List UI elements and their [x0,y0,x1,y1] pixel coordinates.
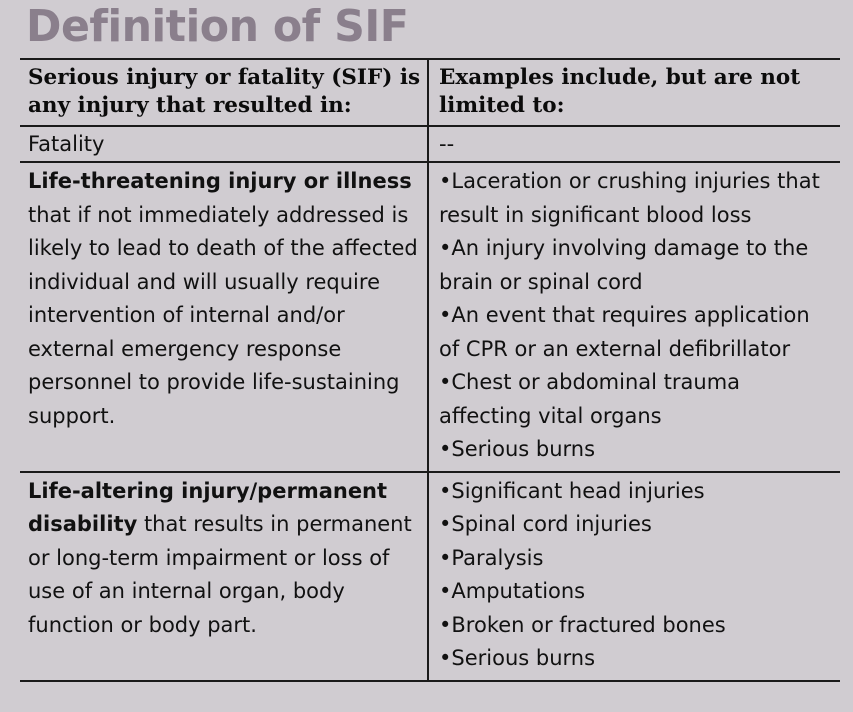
bullet-icon: • [439,479,451,503]
list-item-label: Spinal cord injuries [451,512,651,536]
row-life-threatening-definition-lead: Life-threatening injury or illness [28,169,412,193]
table-row: Life-threatening injury or illness that … [20,162,840,472]
bullet-icon: • [439,303,451,327]
list-item-label: An event that requires application of CP… [439,303,810,361]
list-item: •Chest or abdominal trauma affecting vit… [439,366,834,433]
page-title: Definition of SIF [26,1,408,53]
bullet-icon: • [439,169,451,193]
list-item-label: Laceration or crushing injuries that res… [439,169,820,227]
row-life-altering-examples-cell: •Significant head injuries •Spinal cord … [428,472,840,681]
table-header-right-label: Examples include, but are not limited to… [429,60,840,125]
list-item: •Laceration or crushing injuries that re… [439,165,834,232]
row-life-threatening-definition-text: Life-threatening injury or illness that … [28,165,421,433]
row-fatality-examples-cell: -- [428,126,840,162]
bullet-icon: • [439,370,451,394]
list-item: •An injury involving damage to the brain… [439,232,834,299]
table-header-cell-left: Serious injury or fatality (SIF) is any … [20,59,428,126]
bullet-icon: • [439,236,451,260]
list-item-label: Paralysis [451,546,543,570]
bullet-icon: • [439,579,451,603]
row-life-threatening-definition-body: that if not immediately addressed is lik… [28,203,418,428]
bullet-icon: • [439,546,451,570]
table-row: Life-altering injury/permanent disabilit… [20,472,840,681]
list-item: •Broken or fractured bones [439,609,834,643]
row-fatality-definition-text: Fatality [28,128,421,160]
row-fatality-examples-placeholder: -- [439,128,834,160]
slide-canvas: Definition of SIF Serious injury or fata… [0,0,853,712]
table-row: Fatality -- [20,126,840,162]
list-item: •Significant head injuries [439,475,834,509]
row-life-threatening-examples-list: •Laceration or crushing injuries that re… [439,165,834,467]
table-header-left-label: Serious injury or fatality (SIF) is any … [20,60,427,125]
list-item-label: Serious burns [451,437,595,461]
list-item-label: An injury involving damage to the brain … [439,236,808,294]
list-item-label: Significant head injuries [451,479,704,503]
list-item: •Serious burns [439,642,834,676]
row-life-altering-definition-text: Life-altering injury/permanent disabilit… [28,475,421,643]
bullet-icon: • [439,512,451,536]
row-life-threatening-examples-cell: •Laceration or crushing injuries that re… [428,162,840,472]
sif-definition-table: Serious injury or fatality (SIF) is any … [20,58,840,682]
list-item-label: Amputations [451,579,585,603]
list-item-label: Chest or abdominal trauma affecting vita… [439,370,740,428]
list-item-label: Serious burns [451,646,595,670]
row-life-threatening-definition-cell: Life-threatening injury or illness that … [20,162,428,472]
list-item: •Spinal cord injuries [439,508,834,542]
list-item-label: Broken or fractured bones [451,613,725,637]
row-fatality-definition-cell: Fatality [20,126,428,162]
table-header-row: Serious injury or fatality (SIF) is any … [20,59,840,126]
list-item: •An event that requires application of C… [439,299,834,366]
row-life-altering-definition-cell: Life-altering injury/permanent disabilit… [20,472,428,681]
row-life-altering-examples-list: •Significant head injuries •Spinal cord … [439,475,834,676]
bullet-icon: • [439,437,451,461]
bullet-icon: • [439,613,451,637]
bullet-icon: • [439,646,451,670]
list-item: •Serious burns [439,433,834,467]
table-header-cell-right: Examples include, but are not limited to… [428,59,840,126]
list-item: •Amputations [439,575,834,609]
list-item: •Paralysis [439,542,834,576]
